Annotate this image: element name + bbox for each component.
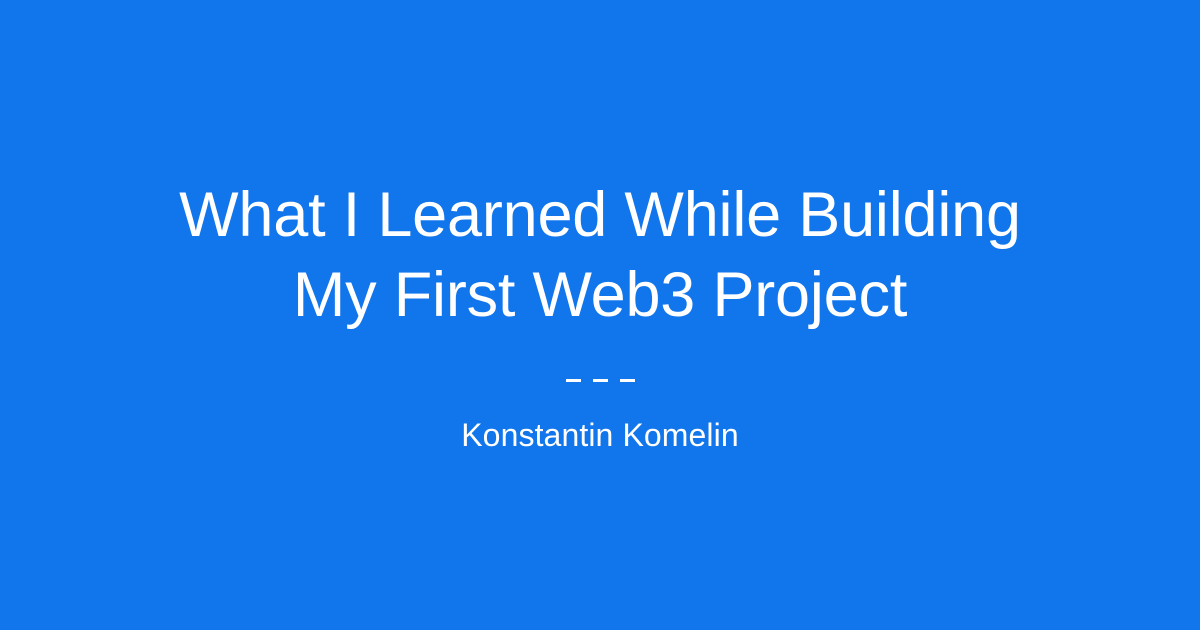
divider-dash-icon xyxy=(620,379,635,382)
divider-dash-icon xyxy=(593,379,608,382)
card-title: What I Learned While Building My First W… xyxy=(170,175,1030,335)
card-author: Konstantin Komelin xyxy=(461,415,739,455)
divider-dash-icon xyxy=(566,379,581,382)
title-divider xyxy=(566,379,635,382)
social-share-card: What I Learned While Building My First W… xyxy=(0,0,1200,630)
